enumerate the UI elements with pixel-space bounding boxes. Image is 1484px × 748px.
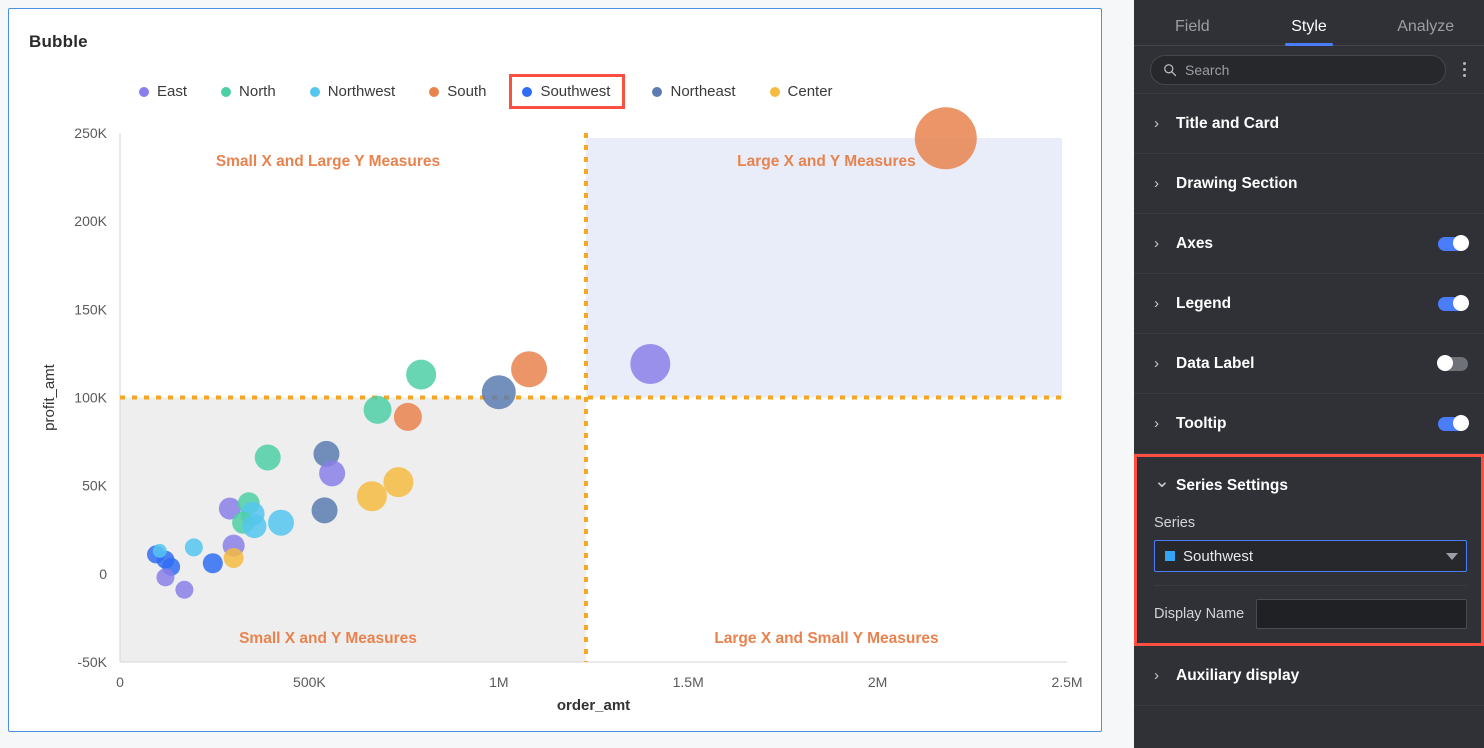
toggle-knob: [1453, 295, 1469, 311]
bubble-point[interactable]: [915, 107, 977, 169]
series-settings-section: ⌄Series SettingsSeriesSouthwestDisplay N…: [1134, 454, 1484, 646]
y-tick-label: 0: [99, 566, 107, 582]
panel-section-title-and-card[interactable]: ›Title and Card: [1134, 94, 1484, 154]
toggle-switch[interactable]: [1438, 237, 1468, 251]
series-settings-body: SeriesSouthwestDisplay Name: [1137, 515, 1481, 643]
bubble-point[interactable]: [185, 538, 203, 556]
panel-section-data-label[interactable]: ›Data Label: [1134, 334, 1484, 394]
x-tick-label: 1M: [489, 674, 508, 690]
y-tick-label: 150K: [74, 301, 107, 317]
bubble-point[interactable]: [175, 581, 193, 599]
y-tick-label: 50K: [82, 478, 108, 494]
series-select-dropdown[interactable]: Southwest: [1154, 540, 1467, 572]
panel-section-legend[interactable]: ›Legend: [1134, 274, 1484, 334]
bubble-point[interactable]: [319, 460, 345, 486]
panel-section-label: Legend: [1176, 295, 1428, 313]
display-name-label: Display Name: [1154, 606, 1244, 622]
bubble-point[interactable]: [224, 548, 244, 568]
toggle-knob: [1453, 415, 1469, 431]
bubble-point[interactable]: [364, 396, 392, 424]
x-tick-label: 1.5M: [673, 674, 704, 690]
app-root: Bubble EastNorthNorthwestSouthSouthwestN…: [0, 0, 1484, 748]
panel-section-axes[interactable]: ›Axes: [1134, 214, 1484, 274]
bubble-point[interactable]: [153, 544, 167, 558]
bubble-point[interactable]: [242, 514, 266, 538]
x-tick-label: 2M: [868, 674, 887, 690]
panel-section-list: ›Title and Card›Drawing Section›Axes›Leg…: [1134, 94, 1484, 748]
display-name-row: Display Name: [1154, 586, 1467, 629]
toggle-knob: [1437, 355, 1453, 371]
panel-section-label: Auxiliary display: [1176, 667, 1468, 685]
chart-card[interactable]: Bubble EastNorthNorthwestSouthSouthwestN…: [8, 8, 1102, 732]
quadrant-bottom-left: [120, 398, 586, 663]
panel-section-label: Drawing Section: [1176, 175, 1468, 193]
bubble-point[interactable]: [357, 481, 387, 511]
panel-section-tooltip[interactable]: ›Tooltip: [1134, 394, 1484, 454]
chart-pane: Bubble EastNorthNorthwestSouthSouthwestN…: [0, 0, 1134, 748]
bubble-point[interactable]: [406, 360, 436, 390]
scatter-plot-svg[interactable]: 250K200K150K100K50K0-50K0500K1M1.5M2M2.5…: [9, 9, 1102, 732]
plot-area: 250K200K150K100K50K0-50K0500K1M1.5M2M2.5…: [9, 9, 1102, 732]
panel-section-label: Title and Card: [1176, 115, 1468, 133]
x-tick-label: 0: [116, 674, 124, 690]
tab-field[interactable]: Field: [1134, 18, 1251, 45]
y-tick-label: 250K: [74, 125, 107, 141]
search-input[interactable]: [1185, 62, 1433, 78]
bubble-point[interactable]: [268, 510, 294, 536]
x-axis-title: order_amt: [557, 697, 630, 714]
series-color-swatch-icon: [1165, 551, 1175, 561]
quadrant-annotation-label: Large X and Y Measures: [737, 153, 916, 170]
toggle-switch[interactable]: [1438, 297, 1468, 311]
series-selected-value: Southwest: [1183, 548, 1438, 565]
bubble-point[interactable]: [482, 375, 516, 409]
style-panel: FieldStyleAnalyze ›Title and Card›Drawin…: [1134, 0, 1484, 748]
chevron-right-icon: ›: [1154, 176, 1166, 191]
search-icon: [1163, 63, 1177, 77]
y-tick-label: -50K: [77, 654, 107, 670]
quadrant-annotation-label: Large X and Small Y Measures: [714, 630, 938, 647]
y-tick-label: 100K: [74, 390, 107, 406]
panel-section-auxiliary-display[interactable]: ›Auxiliary display: [1134, 646, 1484, 706]
bubble-point[interactable]: [630, 344, 670, 384]
chevron-right-icon: ›: [1154, 356, 1166, 371]
bubble-point[interactable]: [394, 403, 422, 431]
series-field-label: Series: [1154, 515, 1467, 531]
panel-section-label: Tooltip: [1176, 415, 1428, 433]
quadrant-annotation-label: Small X and Large Y Measures: [216, 153, 440, 170]
series-settings-label: Series Settings: [1176, 477, 1465, 495]
toggle-knob: [1453, 235, 1469, 251]
bubble-point[interactable]: [255, 444, 281, 470]
kebab-menu-icon[interactable]: [1454, 62, 1474, 77]
bubble-point[interactable]: [203, 553, 223, 573]
panel-section-label: Axes: [1176, 235, 1428, 253]
y-tick-label: 200K: [74, 213, 107, 229]
chevron-right-icon: ›: [1154, 296, 1166, 311]
bubble-point[interactable]: [511, 351, 547, 387]
series-settings-header[interactable]: ⌄Series Settings: [1137, 457, 1481, 515]
toggle-switch[interactable]: [1438, 357, 1468, 371]
tab-style[interactable]: Style: [1251, 18, 1368, 45]
chevron-right-icon: ›: [1154, 236, 1166, 251]
bubble-point[interactable]: [312, 497, 338, 523]
toggle-switch[interactable]: [1438, 417, 1468, 431]
y-axis-title: profit_amt: [41, 363, 58, 431]
x-tick-label: 2.5M: [1051, 674, 1082, 690]
display-name-input[interactable]: [1256, 599, 1467, 629]
chevron-right-icon: ›: [1154, 668, 1166, 683]
panel-section-label: Data Label: [1176, 355, 1428, 373]
chevron-down-icon: [1446, 553, 1458, 560]
search-box[interactable]: [1150, 55, 1446, 85]
bubble-point[interactable]: [156, 568, 174, 586]
x-tick-label: 500K: [293, 674, 326, 690]
chevron-right-icon: ›: [1154, 416, 1166, 431]
quadrant-annotation-label: Small X and Y Measures: [239, 630, 417, 647]
chevron-down-icon: ⌄: [1154, 472, 1166, 491]
tab-analyze[interactable]: Analyze: [1367, 18, 1484, 45]
panel-search-row: [1134, 46, 1484, 94]
panel-tab-bar: FieldStyleAnalyze: [1134, 0, 1484, 46]
panel-section-drawing-section[interactable]: ›Drawing Section: [1134, 154, 1484, 214]
bubble-point[interactable]: [383, 467, 413, 497]
chevron-right-icon: ›: [1154, 116, 1166, 131]
